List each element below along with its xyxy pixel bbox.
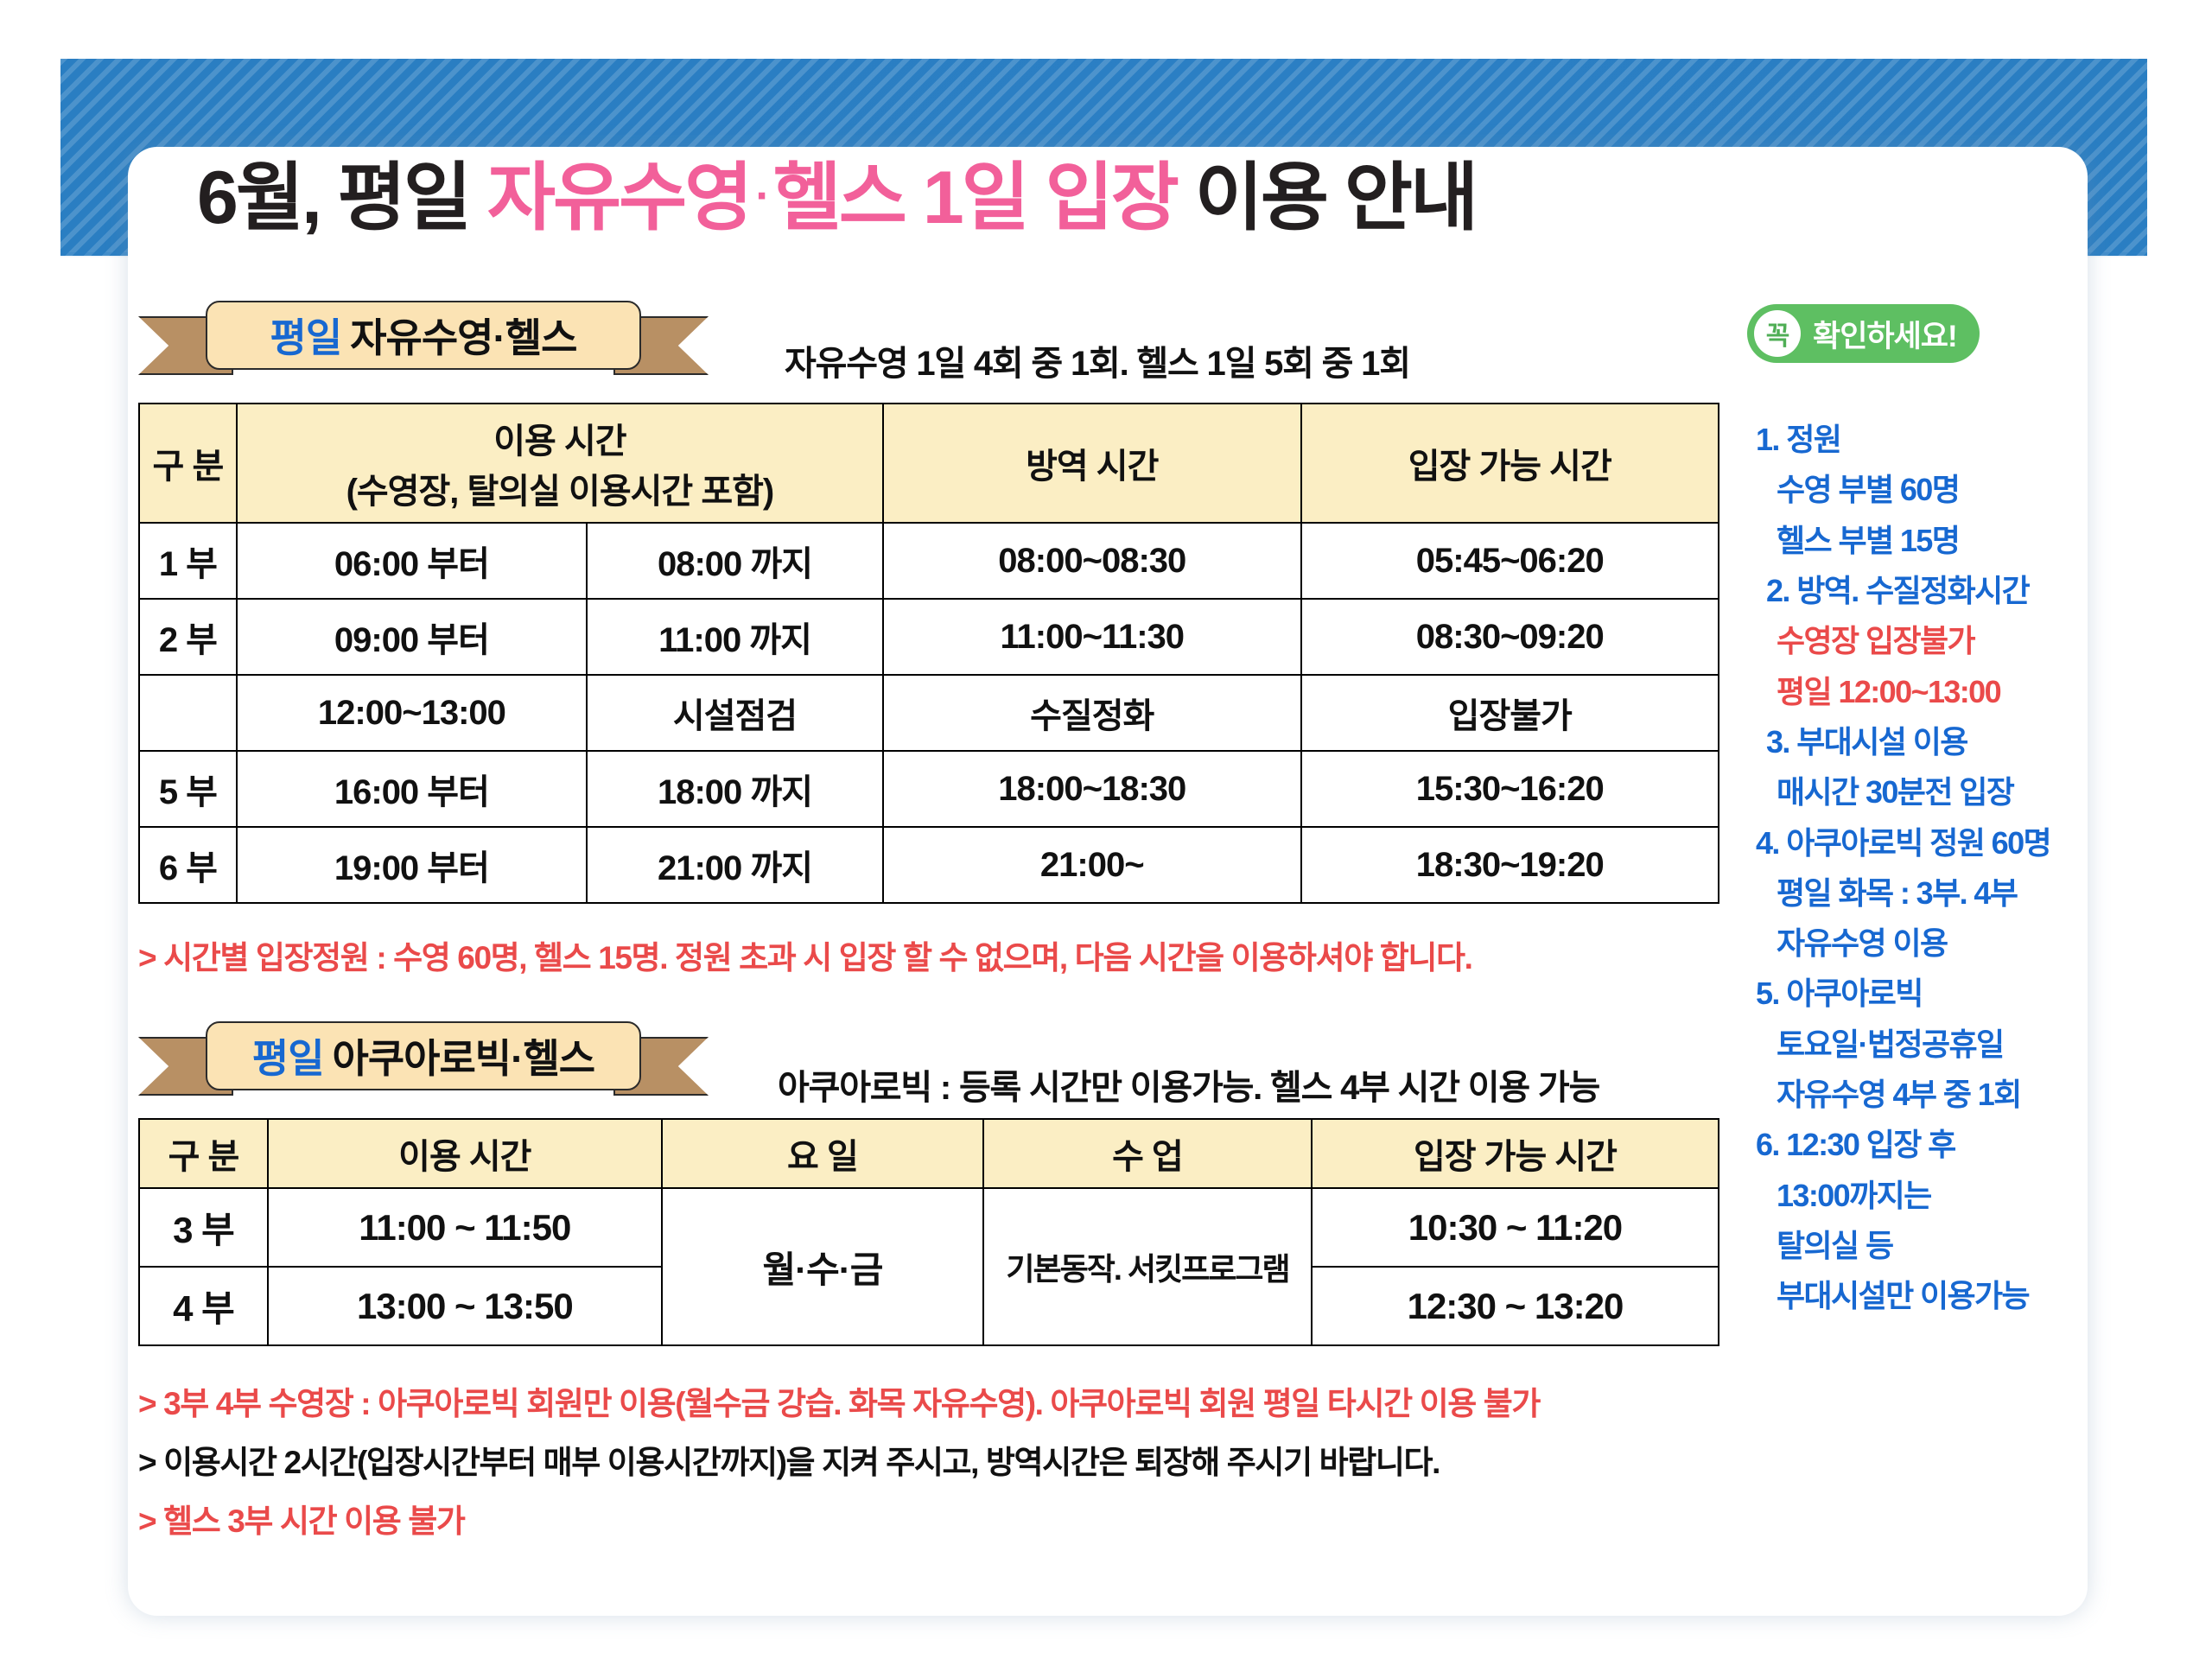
section-1-footnote: > 시간별 입장정원 : 수영 60명, 헬스 15명. 정원 초과 시 입장 …	[138, 931, 1472, 978]
ribbon-label-activity: 자유수영·헬스	[350, 307, 576, 364]
checklist-item: 평일 12:00~13:00	[1756, 667, 2162, 717]
th-disinfection-time: 방역 시간	[883, 404, 1300, 523]
cell-gubun: 4 부	[139, 1267, 268, 1345]
cell-use-time: 11:00 ~ 11:50	[268, 1188, 662, 1267]
status-badge: 꼭 확인하세요!	[1747, 304, 1980, 363]
cell-use-to: 08:00 까지	[587, 523, 883, 599]
cell-gubun: 1 부	[139, 523, 237, 599]
table-header-row: 구 분 이용 시간 요 일 수 업 입장 가능 시간	[139, 1119, 1719, 1188]
th-day: 요 일	[662, 1119, 983, 1188]
table-row: 12:00~13:00시설점검수질정화입장불가	[139, 675, 1719, 751]
section-2-ribbon: 평일아쿠아로빅·헬스	[138, 1021, 709, 1096]
cell-entry: 18:30~19:20	[1301, 827, 1719, 903]
title-dot-separator: ·	[750, 171, 772, 221]
th-gubun: 구 분	[139, 404, 237, 523]
cell-entry: 05:45~06:20	[1301, 523, 1719, 599]
cell-use-from: 16:00 부터	[237, 751, 587, 827]
checklist-item: 5. 아쿠아로빅	[1756, 969, 2162, 1019]
checklist-item: 4. 아쿠아로빅 정원 60명	[1756, 818, 2162, 868]
cell-use-to: 11:00 까지	[587, 599, 883, 675]
table-row: 1 부06:00 부터08:00 까지08:00~08:3005:45~06:2…	[139, 523, 1719, 599]
cell-disinfection: 21:00~	[883, 827, 1300, 903]
section-1-ribbon: 평일자유수영·헬스	[138, 301, 709, 375]
checklist-item: 헬스 부별 15명	[1756, 516, 2162, 566]
checklist-item: 토요일·법정공휴일	[1756, 1020, 2162, 1070]
table-row: 2 부09:00 부터11:00 까지11:00~11:3008:30~09:2…	[139, 599, 1719, 675]
th-use-time-line1: 이용 시간	[493, 423, 626, 461]
section-2-subtitle: 아쿠아로빅 : 등록 시간만 이용가능. 헬스 4부 시간 이용 가능	[778, 1059, 1599, 1109]
cell-class: 기본동작. 서킷프로그램	[983, 1188, 1312, 1345]
table-header-row: 구 분 이용 시간 (수영장, 탈의실 이용시간 포함) 방역 시간 입장 가능…	[139, 404, 1719, 523]
table-row: 3 부11:00 ~ 11:50월·수·금기본동작. 서킷프로그램10:30 ~…	[139, 1188, 1719, 1267]
poster-root: 6월, 평일 자유수영·헬스 1일 입장 이용 안내 꼭 확인하세요! 평일자유…	[0, 0, 2212, 1659]
cell-gubun: 6 부	[139, 827, 237, 903]
checklist-item: 매시간 30분전 입장	[1756, 767, 2162, 817]
title-pink-2: 헬스 1일 입장	[773, 156, 1177, 239]
th-entry-time: 입장 가능 시간	[1301, 404, 1719, 523]
page-title: 6월, 평일 자유수영·헬스 1일 입장 이용 안내	[130, 161, 2091, 235]
cell-disinfection: 08:00~08:30	[883, 523, 1300, 599]
weekday-aqua-gym-table: 구 분 이용 시간 요 일 수 업 입장 가능 시간 3 부11:00 ~ 11…	[138, 1118, 1719, 1346]
checklist-item: 1. 정원	[1756, 415, 2162, 465]
cell-use-time: 13:00 ~ 13:50	[268, 1267, 662, 1345]
cell-use-from: 12:00~13:00	[237, 675, 587, 751]
section-2-footnote-3: > 헬스 3부 시간 이용 불가	[138, 1495, 465, 1541]
checklist-item: 수영장 입장불가	[1756, 616, 2162, 666]
title-part-2: 이용 안내	[1177, 156, 1476, 239]
checklist-item: 13:00까지는	[1756, 1171, 2162, 1221]
cell-gubun: 5 부	[139, 751, 237, 827]
ribbon-plate: 평일아쿠아로빅·헬스	[206, 1021, 641, 1090]
cell-entry: 15:30~16:20	[1301, 751, 1719, 827]
section-2-footnote-2: > 이용시간 2시간(입장시간부터 매부 이용시간까지)을 지켜 주시고, 방역…	[138, 1436, 1440, 1483]
cell-use-to: 18:00 까지	[587, 751, 883, 827]
cell-entry: 10:30 ~ 11:20	[1312, 1188, 1719, 1267]
table-body: 3 부11:00 ~ 11:50월·수·금기본동작. 서킷프로그램10:30 ~…	[139, 1188, 1719, 1345]
th-gubun: 구 분	[139, 1119, 268, 1188]
cell-disinfection: 수질정화	[883, 675, 1300, 751]
checklist-item: 자유수영 이용	[1756, 918, 2162, 969]
checklist-item: 수영 부별 60명	[1756, 465, 2162, 515]
cell-use-to: 시설점검	[587, 675, 883, 751]
cell-gubun: 3 부	[139, 1188, 268, 1267]
checklist-item: 6. 12:30 입장 후	[1756, 1120, 2162, 1170]
cell-disinfection: 11:00~11:30	[883, 599, 1300, 675]
cell-entry: 12:30 ~ 13:20	[1312, 1267, 1719, 1345]
badge-circle-icon: 꼭	[1754, 310, 1801, 357]
checklist-item: 2. 방역. 수질정화시간	[1756, 566, 2162, 616]
checklist-item: 자유수영 4부 중 1회	[1756, 1070, 2162, 1120]
ribbon-label-weekday: 평일	[270, 307, 351, 364]
cell-use-from: 09:00 부터	[237, 599, 587, 675]
checklist-item: 평일 화목 : 3부. 4부	[1756, 868, 2162, 918]
cell-use-to: 21:00 까지	[587, 827, 883, 903]
section-2-footnote-1: > 3부 4부 수영장 : 아쿠아로빅 회원만 이용(월수금 강습. 화목 자유…	[138, 1377, 1540, 1424]
ribbon-plate: 평일자유수영·헬스	[206, 301, 641, 370]
cell-gubun	[139, 675, 237, 751]
th-use-time-line2: (수영장, 탈의실 이용시간 포함)	[241, 463, 879, 513]
cell-use-from: 06:00 부터	[237, 523, 587, 599]
weekday-swim-gym-table: 구 분 이용 시간 (수영장, 탈의실 이용시간 포함) 방역 시간 입장 가능…	[138, 403, 1719, 904]
cell-gubun: 2 부	[139, 599, 237, 675]
table-row: 5 부16:00 부터18:00 까지18:00~18:3015:30~16:2…	[139, 751, 1719, 827]
checklist-item: 탈의실 등	[1756, 1221, 2162, 1271]
cell-use-from: 19:00 부터	[237, 827, 587, 903]
th-entry-time: 입장 가능 시간	[1312, 1119, 1719, 1188]
table-body: 1 부06:00 부터08:00 까지08:00~08:3005:45~06:2…	[139, 523, 1719, 903]
ribbon-label-weekday: 평일	[252, 1027, 333, 1084]
cell-days: 월·수·금	[662, 1188, 983, 1345]
th-class: 수 업	[983, 1119, 1312, 1188]
title-part-1: 6월, 평일	[197, 156, 487, 239]
cell-entry: 08:30~09:20	[1301, 599, 1719, 675]
title-pink-1: 자유수영	[487, 156, 750, 239]
table-row: 6 부19:00 부터21:00 까지21:00~18:30~19:20	[139, 827, 1719, 903]
badge-label: 확인하세요!	[1813, 312, 1957, 356]
checklist-sidebar: 1. 정원수영 부별 60명헬스 부별 15명2. 방역. 수질정화시간수영장 …	[1756, 415, 2162, 1322]
ribbon-label-activity: 아쿠아로빅·헬스	[333, 1027, 595, 1084]
cell-disinfection: 18:00~18:30	[883, 751, 1300, 827]
checklist-item: 3. 부대시설 이용	[1756, 717, 2162, 767]
cell-entry: 입장불가	[1301, 675, 1719, 751]
section-1-subtitle: 자유수영 1일 4회 중 1회. 헬스 1일 5회 중 1회	[785, 335, 1410, 385]
th-use-time: 이용 시간	[268, 1119, 662, 1188]
checklist-item: 부대시설만 이용가능	[1756, 1271, 2162, 1321]
th-use-time: 이용 시간 (수영장, 탈의실 이용시간 포함)	[237, 404, 883, 523]
